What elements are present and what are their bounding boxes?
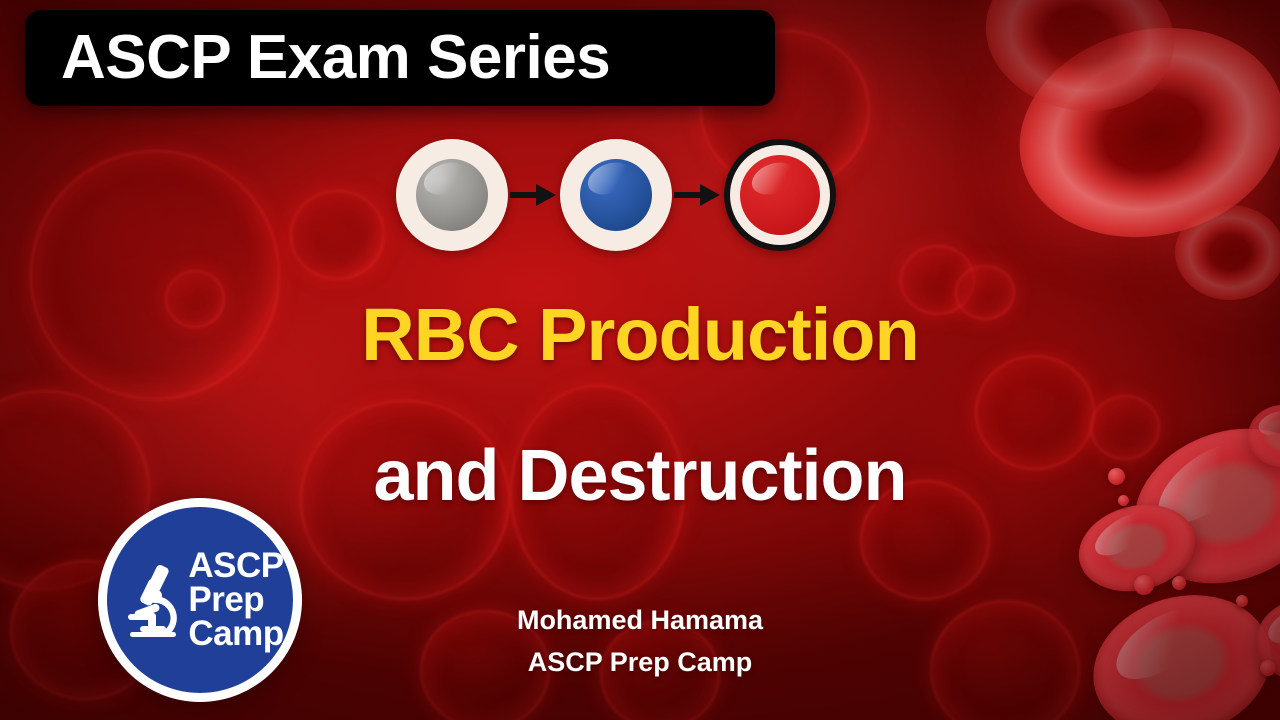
brand-logo-line3: Camp [188,617,283,651]
series-badge-label: ASCP Exam Series [25,27,610,89]
cell-mature-rbc [724,139,836,251]
microscope-icon [122,563,184,637]
arrow-right-icon [672,180,724,210]
series-badge: ASCP Exam Series [25,10,775,106]
cell-blue-nucleus [560,139,672,251]
cell-gray-nucleus [396,139,508,251]
arrow-right-icon [508,180,560,210]
brand-logo-line1: ASCP [188,549,283,583]
brand-logo-line2: Prep [188,583,283,617]
brand-logo-text: ASCP Prep Camp [188,549,283,652]
thumbnail-canvas: ASCP Exam Series [0,0,1280,720]
brand-logo: ASCP Prep Camp [98,498,302,702]
rbc-maturation-diagram [396,134,896,256]
page-title-line1: RBC Production [0,298,1280,372]
brand-logo-disc: ASCP Prep Camp [107,507,293,693]
